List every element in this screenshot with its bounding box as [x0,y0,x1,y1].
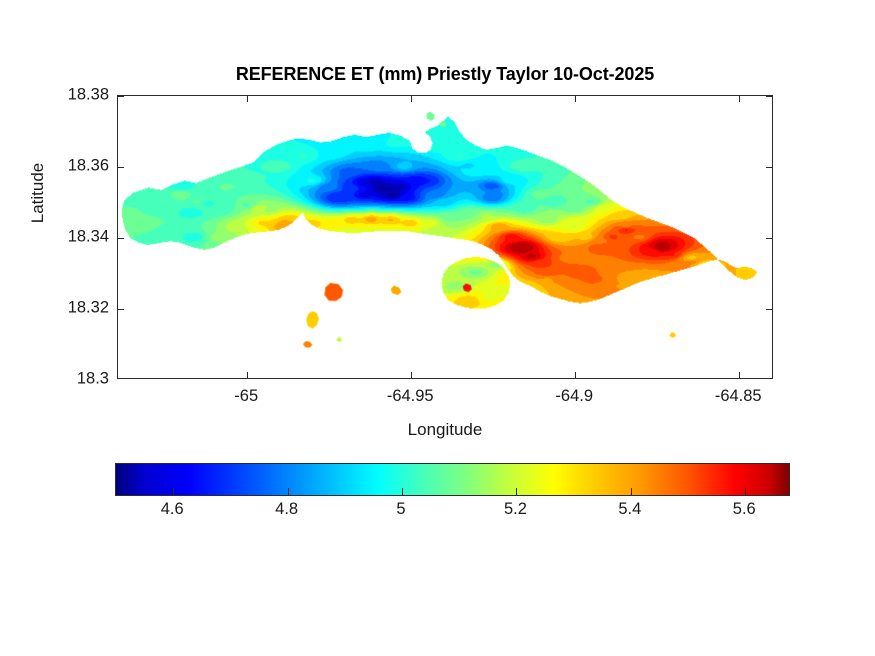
colorbar-tick-label: 5 [396,500,405,519]
colorbar[interactable] [115,463,790,496]
y-axis-tick [766,167,772,168]
x-axis-label: Longitude [117,420,773,440]
y-axis-tick [118,96,124,97]
colorbar-gradient[interactable] [115,463,790,496]
colorbar-tick-label: 4.8 [275,500,298,519]
map-axes[interactable] [117,95,773,379]
x-axis-tick-label: -64.9 [555,387,593,406]
x-axis-tick [575,372,576,378]
colorbar-tick-label: 5.4 [618,500,641,519]
colorbar-tick-label: 4.6 [161,500,184,519]
x-axis-tick-label: -65 [234,387,258,406]
y-axis-tick-label: 18.3 [5,370,109,389]
colorbar-tick [745,488,746,495]
y-axis-tick [766,96,772,97]
colorbar-tick [631,488,632,495]
colorbar-tick [402,488,403,495]
figure-canvas: REFERENCE ET (mm) Priestly Taylor 10-Oct… [0,0,875,656]
x-axis-tick-label: -64.95 [387,387,434,406]
colorbar-tick [288,488,289,495]
x-axis-tick [739,96,740,102]
x-axis-tick-label: -64.85 [715,387,762,406]
et-contour-map[interactable] [118,96,772,378]
y-axis-tick [118,309,124,310]
y-axis-tick [118,238,124,239]
colorbar-tick-label: 5.2 [504,500,527,519]
colorbar-tick-label: 5.6 [733,500,756,519]
x-axis-tick [247,96,248,102]
y-axis-tick-label: 18.36 [5,157,109,176]
x-axis-tick [411,96,412,102]
x-axis-tick [575,96,576,102]
y-axis-tick-label: 18.38 [5,86,109,105]
colorbar-tick [516,488,517,495]
y-axis-tick [766,238,772,239]
y-axis-tick [766,309,772,310]
x-axis-tick [247,372,248,378]
colorbar-tick [173,488,174,495]
y-axis-tick-label: 18.34 [5,228,109,247]
y-axis-tick-label: 18.32 [5,299,109,318]
page-title: REFERENCE ET (mm) Priestly Taylor 10-Oct… [117,64,773,85]
y-axis-label: Latitude [28,133,48,253]
x-axis-tick [411,372,412,378]
y-axis-tick [118,167,124,168]
x-axis-tick [739,372,740,378]
